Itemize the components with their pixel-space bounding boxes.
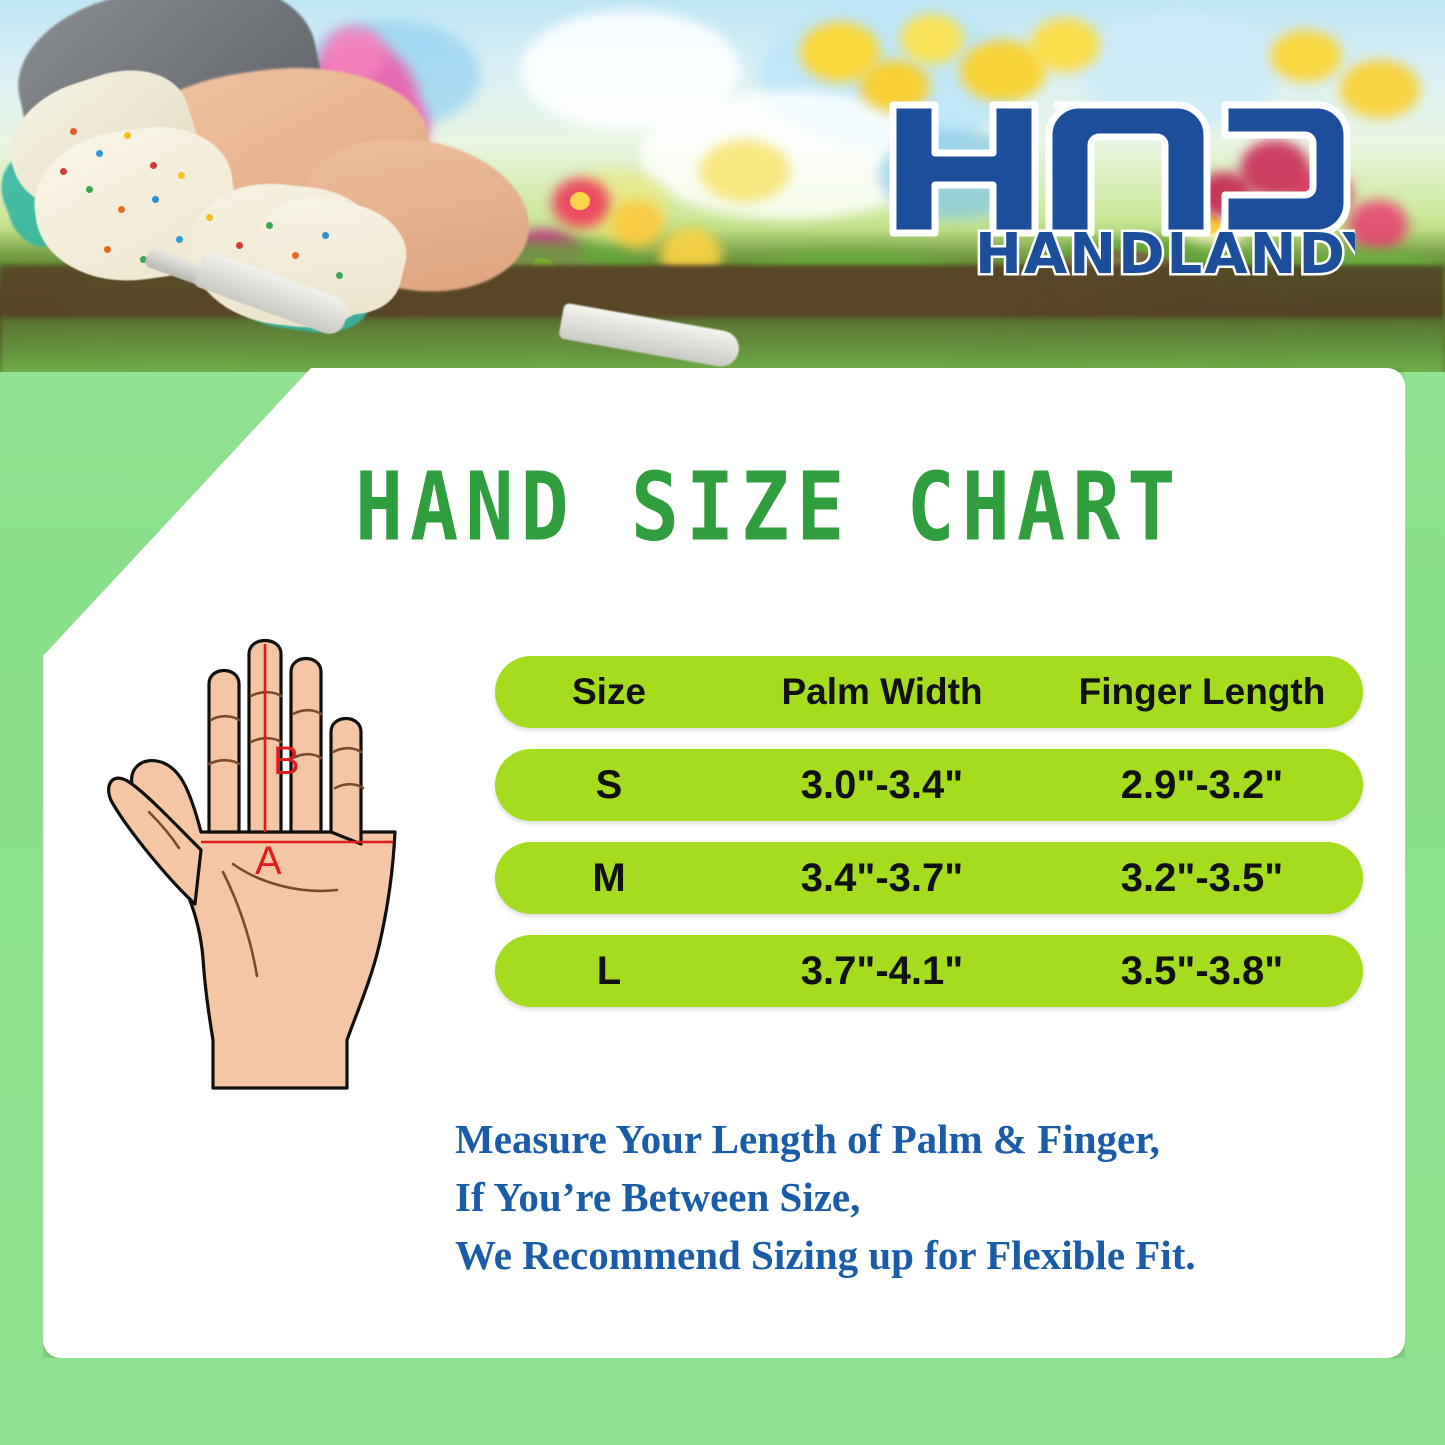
garden-banner-image: HANDLANDY [0, 0, 1445, 372]
note-line-1: Measure Your Length of Palm & Finger, [455, 1110, 1196, 1168]
brand-logo: HANDLANDY [885, 95, 1355, 280]
cell-size: M [495, 856, 723, 901]
hand-measurement-diagram: B A [105, 636, 487, 1096]
table-row: M 3.4"-3.7" 3.2"-3.5" [495, 842, 1363, 914]
label-b: B [273, 739, 300, 783]
size-chart-page: HANDLANDY HAND SIZE CHART [0, 0, 1445, 1445]
table-header-row: Size Palm Width Finger Length [495, 656, 1363, 728]
cell-palm-width: 3.0"-3.4" [723, 763, 1041, 808]
note-line-3: We Recommend Sizing up for Flexible Fit. [455, 1226, 1196, 1284]
sizing-note: Measure Your Length of Palm & Finger, If… [455, 1110, 1196, 1284]
table-row: S 3.0"-3.4" 2.9"-3.2" [495, 749, 1363, 821]
table-row: L 3.7"-4.1" 3.5"-3.8" [495, 935, 1363, 1007]
column-header-finger-length: Finger Length [1041, 671, 1363, 713]
label-a: A [255, 839, 282, 883]
cell-finger-length: 2.9"-3.2" [1041, 763, 1363, 808]
page-title: HAND SIZE CHART [355, 452, 1182, 562]
logo-wordmark: HANDLANDY [975, 222, 1355, 280]
size-chart-card: HAND SIZE CHART [43, 368, 1405, 1358]
column-header-size: Size [495, 671, 723, 713]
cell-palm-width: 3.4"-3.7" [723, 856, 1041, 901]
cell-size: L [495, 949, 723, 994]
column-header-palm-width: Palm Width [723, 671, 1041, 713]
note-line-2: If You’re Between Size, [455, 1168, 1196, 1226]
size-table: Size Palm Width Finger Length S 3.0"-3.4… [495, 656, 1363, 1007]
cell-palm-width: 3.7"-4.1" [723, 949, 1041, 994]
cell-finger-length: 3.2"-3.5" [1041, 856, 1363, 901]
cell-size: S [495, 763, 723, 808]
folded-corner-shadow [43, 368, 343, 678]
cell-finger-length: 3.5"-3.8" [1041, 949, 1363, 994]
